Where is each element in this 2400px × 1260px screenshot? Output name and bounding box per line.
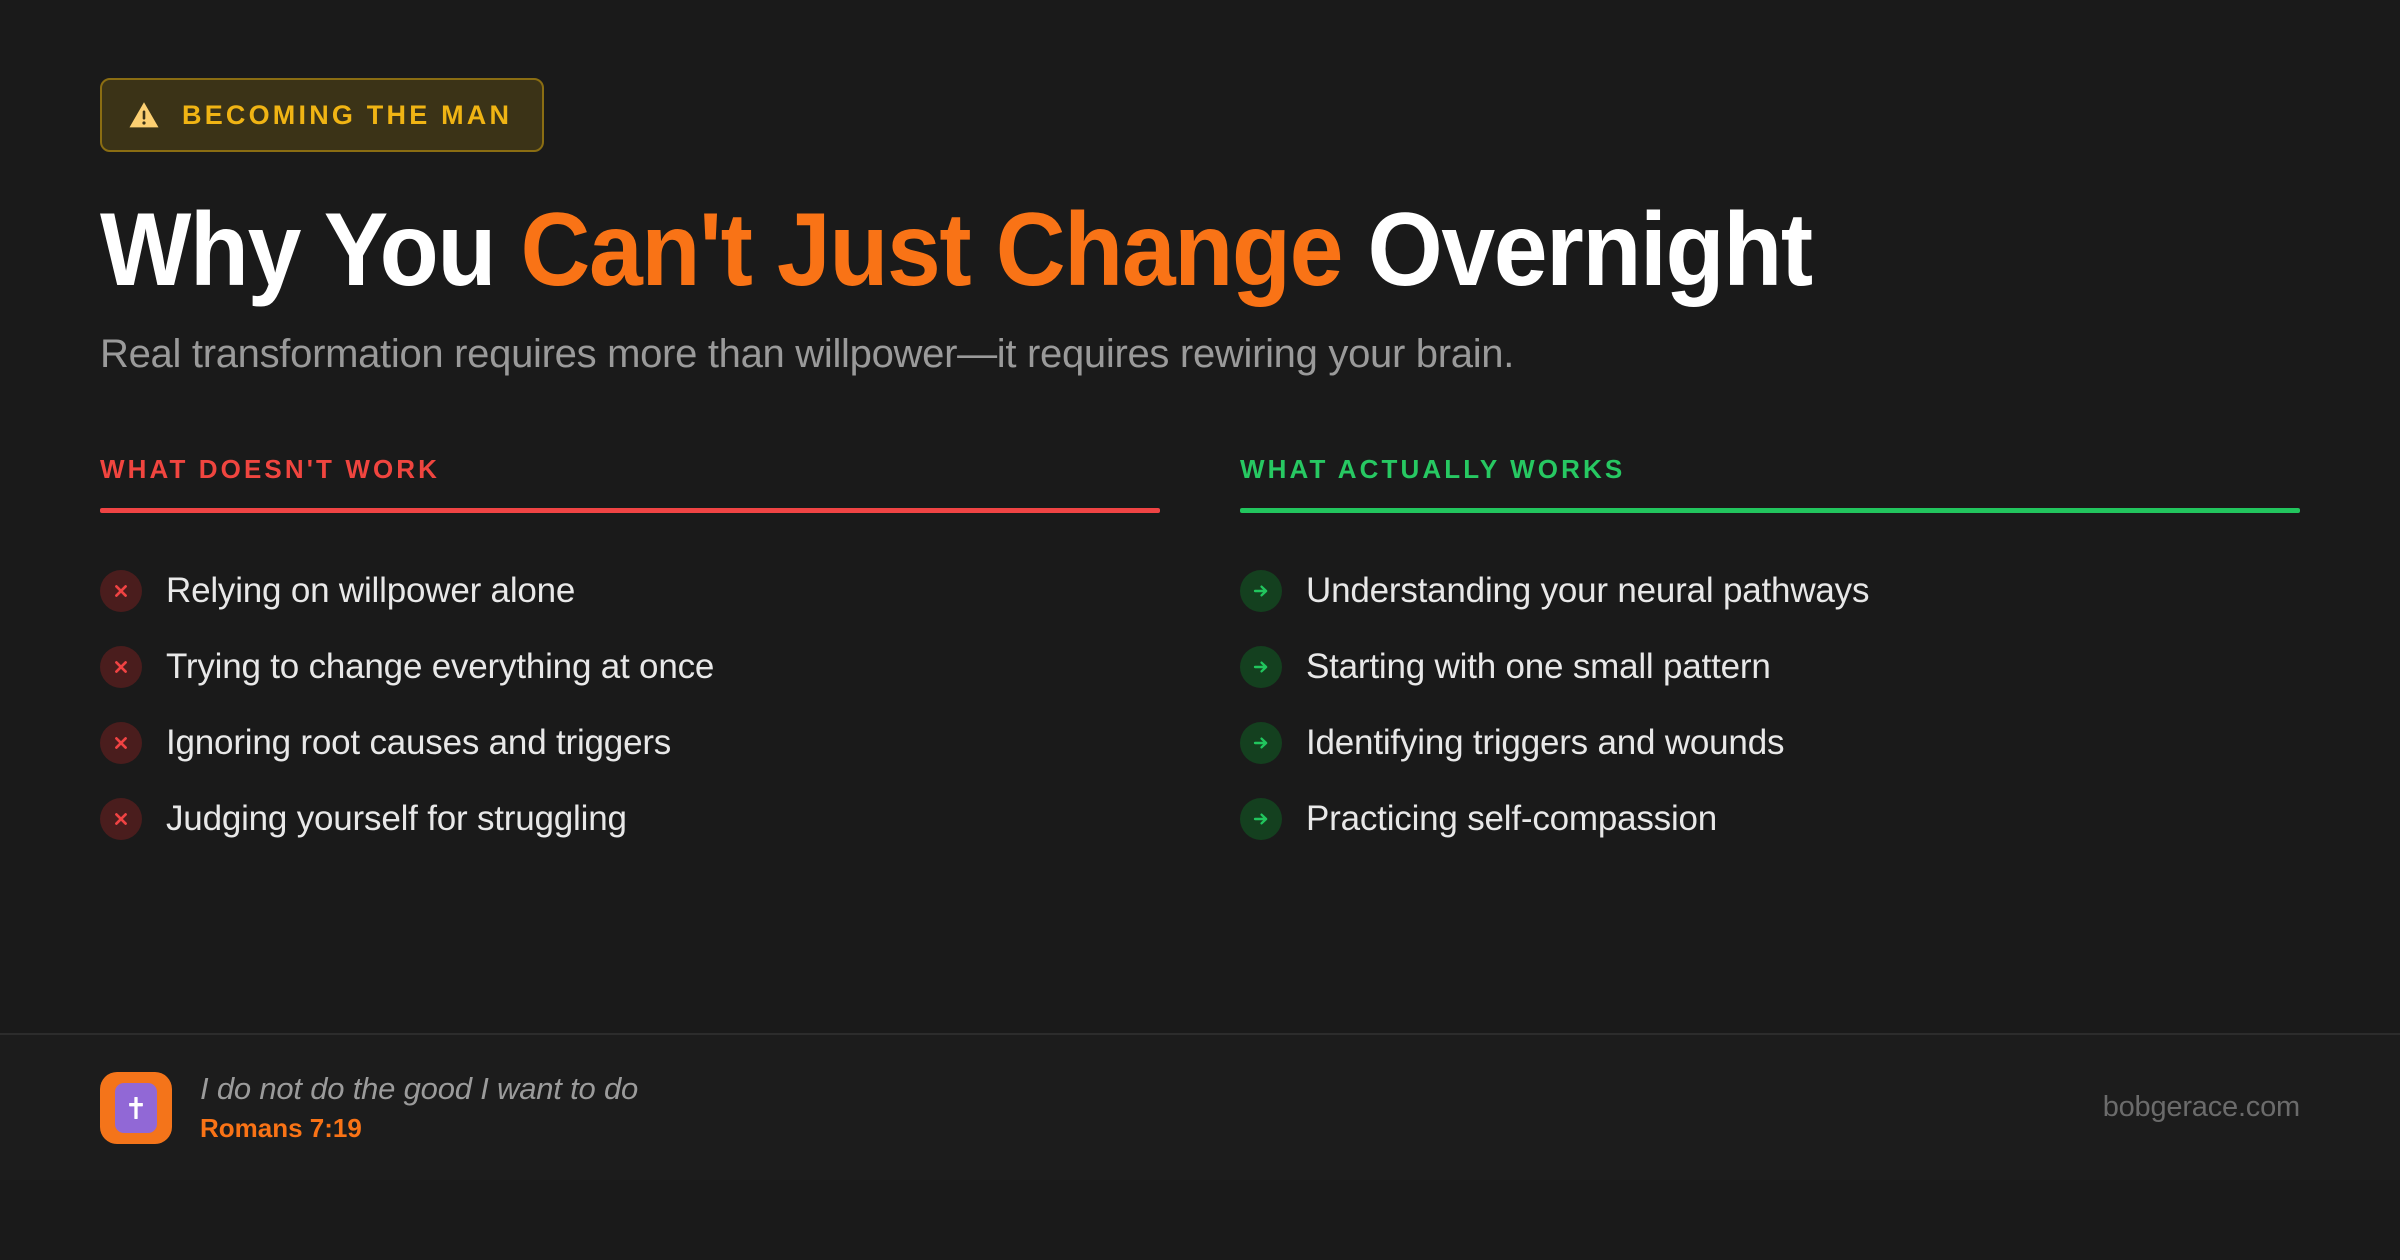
list-item-label: Relying on willpower alone [166,572,575,611]
verse-quote: I do not do the good I want to do [200,1073,638,1106]
positive-item-list: Understanding your neural pathways Start… [1240,553,2300,857]
comparison-columns: WHAT DOESN'T WORK Relying on willpower a… [100,456,2300,857]
list-item: Starting with one small pattern [1240,629,2300,705]
site-url: bobgerace.com [2103,1091,2300,1124]
list-item: Practicing self-compassion [1240,781,2300,857]
list-item-label: Identifying triggers and wounds [1306,724,1784,763]
negative-item-list: Relying on willpower alone Trying to cha… [100,553,1160,857]
list-item-label: Ignoring root causes and triggers [166,724,671,763]
circle-arrow-right-icon [1240,646,1282,688]
eyebrow-badge-label: BECOMING THE MAN [182,102,512,129]
column-what-doesnt-work: WHAT DOESN'T WORK Relying on willpower a… [100,456,1160,857]
list-item-label: Trying to change everything at once [166,648,714,687]
list-item: Judging yourself for struggling [100,781,1160,857]
circle-x-icon [100,646,142,688]
cross-icon [100,1072,172,1144]
list-item-label: Understanding your neural pathways [1306,572,1869,611]
list-item: Trying to change everything at once [100,629,1160,705]
page-title: Why You Can't Just Change Overnight [100,196,2146,304]
column-what-actually-works: WHAT ACTUALLY WORKS Understanding your n… [1240,456,2300,857]
list-item: Relying on willpower alone [100,553,1160,629]
verse-reference: Romans 7:19 [200,1115,638,1142]
circle-x-icon [100,570,142,612]
warning-triangle-icon [128,99,160,131]
slide-content: BECOMING THE MAN Why You Can't Just Chan… [0,0,2400,1033]
verse-text-group: I do not do the good I want to do Romans… [200,1073,638,1142]
circle-arrow-right-icon [1240,570,1282,612]
slide-root: BECOMING THE MAN Why You Can't Just Chan… [0,0,2400,1260]
column-heading-positive: WHAT ACTUALLY WORKS [1240,456,2300,482]
cross-icon-plate [115,1083,157,1133]
column-rule-positive [1240,508,2300,513]
column-rule-negative [100,508,1160,513]
headline-part-2: Overnight [1342,192,1812,308]
list-item: Ignoring root causes and triggers [100,705,1160,781]
list-item: Understanding your neural pathways [1240,553,2300,629]
circle-arrow-right-icon [1240,798,1282,840]
eyebrow-badge: BECOMING THE MAN [100,78,544,152]
column-heading-negative: WHAT DOESN'T WORK [100,456,1160,482]
list-item-label: Judging yourself for struggling [166,800,627,839]
headline-accent: Can't Just Change [520,192,1342,308]
verse-block: I do not do the good I want to do Romans… [100,1072,638,1144]
list-item-label: Starting with one small pattern [1306,648,1771,687]
circle-x-icon [100,722,142,764]
list-item-label: Practicing self-compassion [1306,800,1717,839]
headline-part-1: Why You [100,192,520,308]
page-subtitle: Real transformation requires more than w… [100,328,2300,380]
slide-footer: I do not do the good I want to do Romans… [0,1033,2400,1180]
list-item: Identifying triggers and wounds [1240,705,2300,781]
circle-x-icon [100,798,142,840]
circle-arrow-right-icon [1240,722,1282,764]
